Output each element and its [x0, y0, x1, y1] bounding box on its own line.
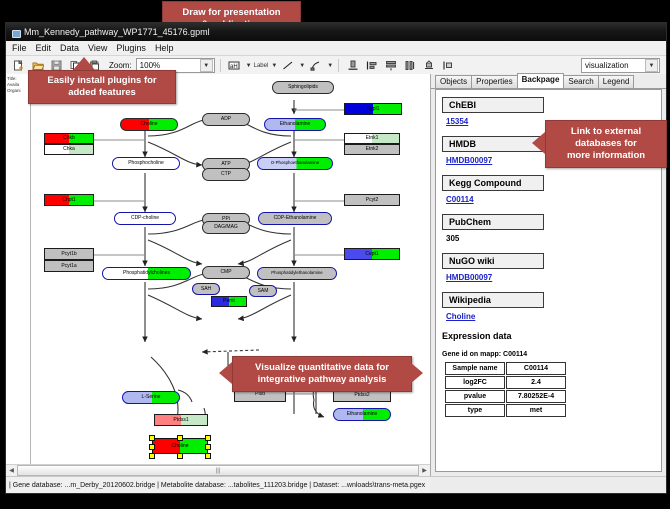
interaction-dropdown-arrow-icon[interactable]: ▼ — [327, 63, 333, 69]
gene-node-pcyt1a[interactable]: Pcyt1a — [44, 260, 94, 272]
callout-database-line3: more information — [567, 150, 645, 162]
metabolite-node-choline[interactable]: Choline — [120, 118, 178, 131]
metabolite-node-cmp[interactable]: CMP — [202, 266, 250, 279]
tab-backpage[interactable]: Backpage — [517, 73, 565, 88]
table-cell-value: met — [506, 404, 566, 417]
node-label: CTP — [221, 172, 231, 177]
node-label: Etnk2 — [366, 147, 379, 152]
table-cell-value: C00114 — [506, 362, 566, 375]
gene-node-chpt1[interactable]: Chpt1 — [44, 194, 94, 206]
node-label: CDP-Ethanolamine — [274, 216, 317, 221]
gene-node-pemt[interactable]: Pemt — [211, 296, 247, 307]
node-label: Pcyt2 — [366, 198, 379, 203]
metabolite-node-sphingolipids[interactable]: Sphingolipids — [272, 81, 334, 94]
link-nugo-wiki[interactable]: HMDB00097 — [446, 273, 655, 282]
menu-item-help[interactable]: Help — [155, 43, 174, 53]
scrollbar-thumb[interactable]: ||| — [17, 465, 419, 476]
selection-handle[interactable] — [205, 453, 211, 459]
scroll-left-arrow-icon[interactable]: ◀ — [6, 465, 17, 476]
tab-legend[interactable]: Legend — [598, 75, 635, 88]
node-label: Pcyt1a — [61, 264, 76, 269]
node-label: Cept1 — [365, 252, 378, 257]
pathway-canvas[interactable]: Title: Availa Organi — [6, 74, 430, 465]
gene-node-etnk2[interactable]: Etnk2 — [344, 144, 400, 155]
node-label: Sphingolipids — [288, 85, 318, 90]
gene-node-sgpl1[interactable]: Sgpl1 — [344, 103, 402, 115]
visualization-combobox[interactable]: visualization ▼ — [581, 58, 660, 73]
node-label: Choline — [141, 122, 158, 127]
node-label: Sgpl1 — [367, 107, 380, 112]
callout-plugins-line2: added features — [68, 87, 136, 99]
menu-item-data[interactable]: Data — [60, 43, 79, 53]
callout-database-pointer — [532, 132, 545, 154]
zoom-value: 100% — [140, 61, 160, 70]
node-label: Ethanolamine — [280, 122, 311, 127]
metabolite-node-o-phosphoethanolamine[interactable]: O-Phosphoethanolamine — [257, 157, 333, 170]
label-tool-label[interactable]: Label — [254, 63, 269, 69]
metabolite-node-ethanolamine-bottom[interactable]: Ethanolamine — [333, 408, 391, 421]
node-label: DAG/MAG — [214, 225, 238, 230]
side-panel-tabs: Objects Properties Backpage Search Legen… — [431, 74, 666, 89]
node-label: Pcyt1b — [61, 252, 76, 257]
table-cell-key: log2FC — [445, 376, 505, 389]
menu-bar: File Edit Data View Plugins Help — [6, 41, 666, 56]
node-label: O-Phosphoethanolamine — [271, 161, 320, 165]
section-heading-pubchem: PubChem — [442, 214, 544, 230]
link-wikipedia[interactable]: Choline — [446, 312, 655, 321]
align-left-icon[interactable] — [363, 57, 380, 74]
metabolite-node-sah[interactable]: SAH — [192, 283, 220, 295]
table-row: type met — [445, 404, 566, 417]
menu-item-plugins[interactable]: Plugins — [116, 43, 146, 53]
node-label: Phosphatidylethanolamine — [271, 271, 323, 275]
metabolite-node-dagmag[interactable]: DAG/MAG — [202, 221, 250, 234]
value-pubchem: 305 — [446, 234, 655, 243]
canvas-horizontal-scrollbar[interactable]: ◀ ||| ▶ — [6, 464, 430, 476]
pathway-editor-pane: Title: Availa Organi — [6, 74, 431, 476]
node-label: ATP — [221, 162, 230, 167]
metabolite-node-cdp-choline[interactable]: CDP-choline — [114, 212, 176, 225]
node-label: Ptdss1 — [173, 418, 188, 423]
canvas-info-strip: Title: Availa Organi — [6, 74, 31, 465]
status-bar: | Gene database: ...m_Derby_20120602.bri… — [6, 476, 433, 493]
callout-link-to-external-databases: Link to external databases for more info… — [545, 120, 667, 168]
metabolite-node-cdp-ethanolamine[interactable]: CDP-Ethanolamine — [258, 212, 332, 225]
label-dropdown-arrow-icon[interactable]: ▼ — [271, 63, 277, 69]
callout-visualize-line2: integrative pathway analysis — [258, 374, 387, 386]
selection-handle[interactable] — [177, 435, 183, 441]
gene-node-pcyt1b[interactable]: Pcyt1b — [44, 248, 94, 260]
node-label: Pemt — [223, 299, 235, 304]
table-cell-key: pvalue — [445, 390, 505, 403]
metabolite-node-ctp[interactable]: CTP — [202, 168, 250, 181]
callout-visualize-right-pointer — [410, 362, 423, 384]
callout-visualize-line1: Visualize quantitative data for — [255, 362, 389, 374]
selection-handle[interactable] — [205, 444, 211, 450]
svg-text:aH: aH — [230, 64, 238, 70]
metabolite-node-l-serine-left[interactable]: L-Serine — [122, 391, 180, 404]
selection-handle[interactable] — [149, 453, 155, 459]
callout-plugins-line1: Easily install plugins for — [47, 75, 156, 87]
link-kegg-compound[interactable]: C00114 — [446, 195, 655, 204]
selection-handle[interactable] — [149, 444, 155, 450]
toolbar-separator-2 — [338, 59, 339, 72]
menu-item-view[interactable]: View — [88, 43, 107, 53]
table-cell-key: Sample name — [445, 362, 505, 375]
toolbar-separator — [220, 59, 221, 72]
node-label: Phosphatidylcholines — [123, 271, 170, 276]
node-label: Phosphocholine — [128, 161, 164, 166]
scroll-right-arrow-icon[interactable]: ▶ — [419, 465, 430, 476]
table-row: Sample name C00114 — [445, 362, 566, 375]
node-label: SAM — [258, 289, 269, 294]
tab-objects[interactable]: Objects — [435, 75, 472, 88]
section-heading-nugo-wiki: NuGO wiki — [442, 253, 544, 269]
gene-node-cept1[interactable]: Cept1 — [344, 248, 400, 260]
node-label: Pisd — [255, 392, 265, 397]
node-label: Etnk1 — [366, 136, 379, 141]
node-label: Choline — [172, 444, 189, 449]
metabolite-node-ethanolamine-top[interactable]: Ethanolamine — [264, 118, 326, 131]
table-cell-key: type — [445, 404, 505, 417]
chevron-down-icon[interactable]: ▼ — [200, 59, 213, 72]
metabolite-node-phosphatidylcholines[interactable]: Phosphatidylcholines — [102, 267, 191, 280]
gene-node-etnk1[interactable]: Etnk1 — [344, 133, 400, 144]
expression-data-table: Sample name C00114 log2FC 2.4 pvalue 7.8… — [444, 361, 567, 418]
interaction-tool-icon[interactable] — [307, 57, 324, 74]
gene-node-chkb[interactable]: Chkb — [44, 133, 94, 144]
tab-properties[interactable]: Properties — [471, 75, 517, 88]
node-label: Chpt1 — [62, 198, 75, 203]
callout-visualize-left-pointer — [219, 362, 232, 384]
node-label: Chkb — [63, 136, 75, 141]
section-heading-wikipedia: Wikipedia — [442, 292, 544, 308]
node-label: Ptdss2 — [354, 393, 369, 398]
line-tool-icon[interactable] — [279, 57, 296, 74]
selection-handle[interactable] — [149, 435, 155, 441]
expression-data-title: Expression data — [442, 331, 655, 341]
menu-item-edit[interactable]: Edit — [36, 43, 52, 53]
stack-icon[interactable] — [420, 57, 437, 74]
info-organism-label: Organi — [7, 88, 29, 94]
new-file-icon[interactable] — [10, 57, 27, 74]
selection-handle[interactable] — [177, 453, 183, 459]
callout-top-line1: Draw for presentation — [182, 7, 280, 19]
section-heading-chebi: ChEBI — [442, 97, 544, 113]
app-icon — [11, 28, 20, 37]
section-heading-kegg-compound: Kegg Compound — [442, 175, 544, 191]
callout-visualize-quantitative-data: Visualize quantitative data for integrat… — [232, 356, 412, 392]
metabolite-node-phosphatidylethanolamine[interactable]: Phosphatidylethanolamine — [257, 267, 337, 280]
gene-node-ptdss1[interactable]: Ptdss1 — [154, 414, 208, 426]
node-label: L-Serine — [142, 395, 161, 400]
datanode-icon[interactable]: aH — [226, 57, 243, 74]
window-title: Mm_Kennedy_pathway_WP1771_45176.gpml — [24, 27, 210, 37]
callout-database-line1: Link to external — [571, 126, 641, 138]
table-cell-value: 7.80252E-4 — [506, 390, 566, 403]
node-label: Chka — [63, 147, 75, 152]
node-label: SAH — [201, 287, 211, 292]
node-label: CMP — [220, 270, 231, 275]
section-heading-hmdb: HMDB — [442, 136, 544, 152]
metabolite-node-adp[interactable]: ADP — [202, 113, 250, 126]
gene-node-chka[interactable]: Chka — [44, 144, 94, 155]
title-bar: Mm_Kennedy_pathway_WP1771_45176.gpml — [6, 23, 666, 41]
line-dropdown-arrow-icon[interactable]: ▼ — [299, 63, 305, 69]
metabolite-node-sam[interactable]: SAM — [249, 285, 277, 297]
align-rows-icon[interactable] — [382, 57, 399, 74]
metabolite-node-phosphocholine[interactable]: Phosphocholine — [112, 157, 180, 170]
selection-handle[interactable] — [205, 435, 211, 441]
table-cell-value: 2.4 — [506, 376, 566, 389]
node-label: CDP-choline — [131, 216, 159, 221]
datanode-dropdown-arrow-icon[interactable]: ▼ — [246, 63, 252, 69]
align-bottom-icon[interactable] — [344, 57, 361, 74]
menu-item-file[interactable]: File — [12, 43, 27, 53]
align-columns-icon[interactable] — [401, 57, 418, 74]
group-icon[interactable] — [439, 57, 456, 74]
table-row: pvalue 7.80252E-4 — [445, 390, 566, 403]
node-label: ADP — [221, 117, 231, 122]
table-row: log2FC 2.4 — [445, 376, 566, 389]
gene-id-label: Gene id on mapp: C00114 — [442, 351, 655, 358]
visualization-value: visualization — [585, 61, 629, 70]
gene-node-pcyt2[interactable]: Pcyt2 — [344, 194, 400, 206]
node-label: Ethanolamine — [347, 412, 378, 417]
status-bar-text: | Gene database: ...m_Derby_20120602.bri… — [9, 482, 425, 489]
tab-search[interactable]: Search — [563, 75, 598, 88]
callout-database-line2: databases for — [575, 138, 637, 150]
callout-easily-install-plugins: Easily install plugins for added feature… — [28, 70, 176, 104]
visualization-chevron-down-icon[interactable]: ▼ — [645, 59, 658, 72]
status-bar-right — [430, 476, 666, 493]
callout-plugins-pointer — [73, 57, 95, 70]
zoom-label: Zoom: — [109, 61, 132, 70]
